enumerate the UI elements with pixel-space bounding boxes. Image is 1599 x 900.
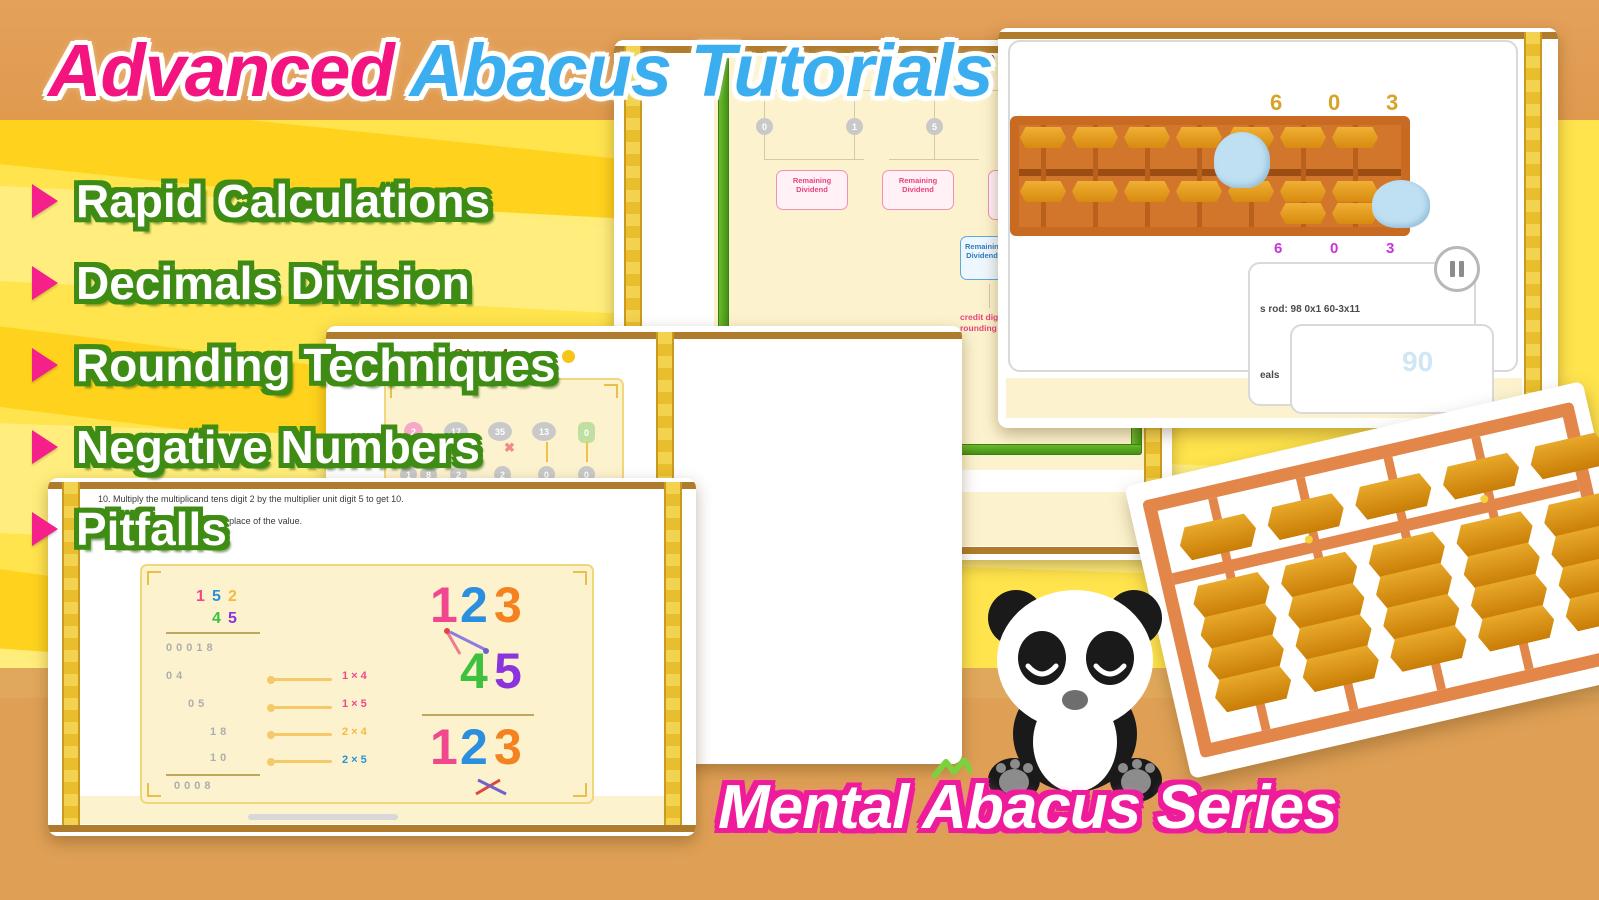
flow-tag-credit-rounding: credit digit rounding [960, 312, 1003, 335]
mult-total: 0008 [174, 780, 214, 792]
mult-connector [274, 706, 332, 709]
mult-row-value: 18 [210, 726, 230, 738]
abacus-bead [1527, 431, 1599, 482]
feature-label: Negative Numbers [76, 420, 480, 474]
abacus-bead [1280, 203, 1326, 224]
hand-icon [1372, 180, 1430, 228]
mult-row-value: 10 [210, 752, 230, 764]
abacus-digit-bottom: 6 [1274, 240, 1282, 257]
abacus-digit-top: 3 [1386, 90, 1398, 116]
mult-pair-label: 1 × 5 [342, 698, 367, 710]
mult-big-digit: 2 [460, 580, 488, 630]
abacus-bead [1280, 181, 1326, 202]
feature-label: Decimals Division [76, 256, 470, 310]
flow-wire [764, 135, 765, 159]
mult-connector [274, 678, 332, 681]
abacus-beam [1019, 169, 1401, 176]
pause-icon[interactable] [1434, 246, 1480, 292]
flow-node: 5 [926, 118, 943, 135]
abacus-digit-bottom: 3 [1386, 240, 1394, 257]
feature-item: Negative Numbers [28, 406, 556, 488]
feature-item: Pitfalls [28, 488, 556, 570]
decor-rail-right [664, 482, 682, 832]
feature-item: Rounding Techniques [28, 324, 556, 406]
corner-decor [604, 384, 618, 398]
screenshot-abacus-player[interactable]: 6 0 3 [998, 28, 1558, 428]
value-card [1290, 324, 1494, 414]
mult-big-digit: 3 [494, 722, 522, 772]
flow-wire [934, 135, 935, 159]
mult-operand-digit: 2 [228, 588, 237, 606]
mult-connector [274, 760, 332, 763]
triangle-right-icon [32, 512, 58, 546]
mult-diagram: 1 5 2 4 5 00018 04 05 18 10 1 × 4 1 × 5 … [140, 564, 594, 804]
divider [998, 32, 1558, 39]
mult-rule [422, 714, 534, 716]
abacus-digit-top: 6 [1270, 90, 1282, 116]
series-headline: Mental Abacus Series [718, 772, 1337, 843]
flow-wire [889, 159, 979, 160]
mult-rule [166, 774, 260, 776]
abacus-bead [1176, 127, 1222, 148]
mult-row-value: 00018 [166, 642, 217, 654]
corner-decor [147, 571, 161, 585]
mult-pair-label: 1 × 4 [342, 670, 367, 682]
poster-canvas: AdvancedAbacus Tutorials Rapid Calculati… [0, 0, 1599, 900]
corner-decor [573, 571, 587, 585]
divider [48, 825, 696, 832]
decor-rail-right [1524, 32, 1542, 424]
mult-big-digit: 1 [430, 580, 458, 630]
feature-item: Decimals Division [28, 242, 556, 324]
abacus-digit-top: 0 [1328, 90, 1340, 116]
value-display: 90 [1402, 346, 1433, 378]
mult-pair-label: 2 × 5 [342, 754, 367, 766]
read-line: s rod: 98 0x1 60-3x11 [1260, 304, 1360, 315]
abacus-bead [1072, 127, 1118, 148]
abacus-bead [1280, 127, 1326, 148]
sprout-icon [932, 758, 972, 778]
scrollbar[interactable] [248, 814, 398, 820]
mult-operand-digit: 1 [196, 588, 205, 606]
mult-big-digit: 1 [430, 722, 458, 772]
corner-decor [573, 783, 587, 797]
hand-icon [1214, 132, 1270, 188]
abacus-bead [1124, 181, 1170, 202]
mult-operand-digit: 5 [228, 610, 237, 628]
abacus-bead [1072, 181, 1118, 202]
flow-node: 1 [846, 118, 863, 135]
mult-rule [166, 632, 260, 634]
feature-label: Pitfalls [76, 502, 227, 556]
mult-operand-digit: 4 [212, 610, 221, 628]
sub-line: eals [1260, 370, 1279, 381]
flow-box-pink: Remaining Dividend [776, 170, 848, 210]
flow-box-pink: Remaining Dividend [882, 170, 954, 210]
step-digit-top: 0 [578, 422, 595, 443]
triangle-right-icon [32, 348, 58, 382]
abacus-icon[interactable] [1010, 116, 1410, 236]
abacus-bead [1124, 127, 1170, 148]
abacus-digit-bottom: 0 [1330, 240, 1338, 257]
mult-operand-digit: 5 [212, 588, 221, 606]
triangle-right-icon [32, 430, 58, 464]
mult-big-digit: 3 [494, 580, 522, 630]
screenshot-abacus-body: 6 0 3 [998, 28, 1558, 428]
mult-pair-label: 2 × 4 [342, 726, 367, 738]
feature-item: Rapid Calculations [28, 160, 556, 242]
feature-label: Rounding Techniques [76, 338, 556, 392]
abacus-bead [1332, 181, 1378, 202]
title-advanced: Advanced [48, 29, 394, 112]
mult-connector [274, 733, 332, 736]
abacus-bead [1020, 127, 1066, 148]
feature-label: Rapid Calculations [76, 174, 490, 228]
flow-wire [854, 135, 855, 159]
abacus-bead [1176, 181, 1222, 202]
mult-row-value: 04 [166, 670, 186, 682]
corner-decor [147, 783, 161, 797]
mult-big-digit: 2 [460, 722, 488, 772]
flow-wire [989, 284, 990, 308]
link-arrows-icon [438, 628, 508, 662]
feature-list: Rapid Calculations Decimals Division Rou… [28, 160, 556, 570]
mult-row-value: 05 [188, 698, 208, 710]
abacus-bead [1332, 127, 1378, 148]
flow-wire [764, 159, 864, 160]
cross-arrows-icon [472, 778, 522, 800]
abacus-bead [1020, 181, 1066, 202]
page-title: AdvancedAbacus Tutorials [48, 34, 993, 108]
triangle-right-icon [32, 184, 58, 218]
flow-node: 0 [756, 118, 773, 135]
down-arrow-icon [586, 442, 588, 462]
triangle-right-icon [32, 266, 58, 300]
title-abacus-tutorials: Abacus Tutorials [410, 29, 993, 112]
